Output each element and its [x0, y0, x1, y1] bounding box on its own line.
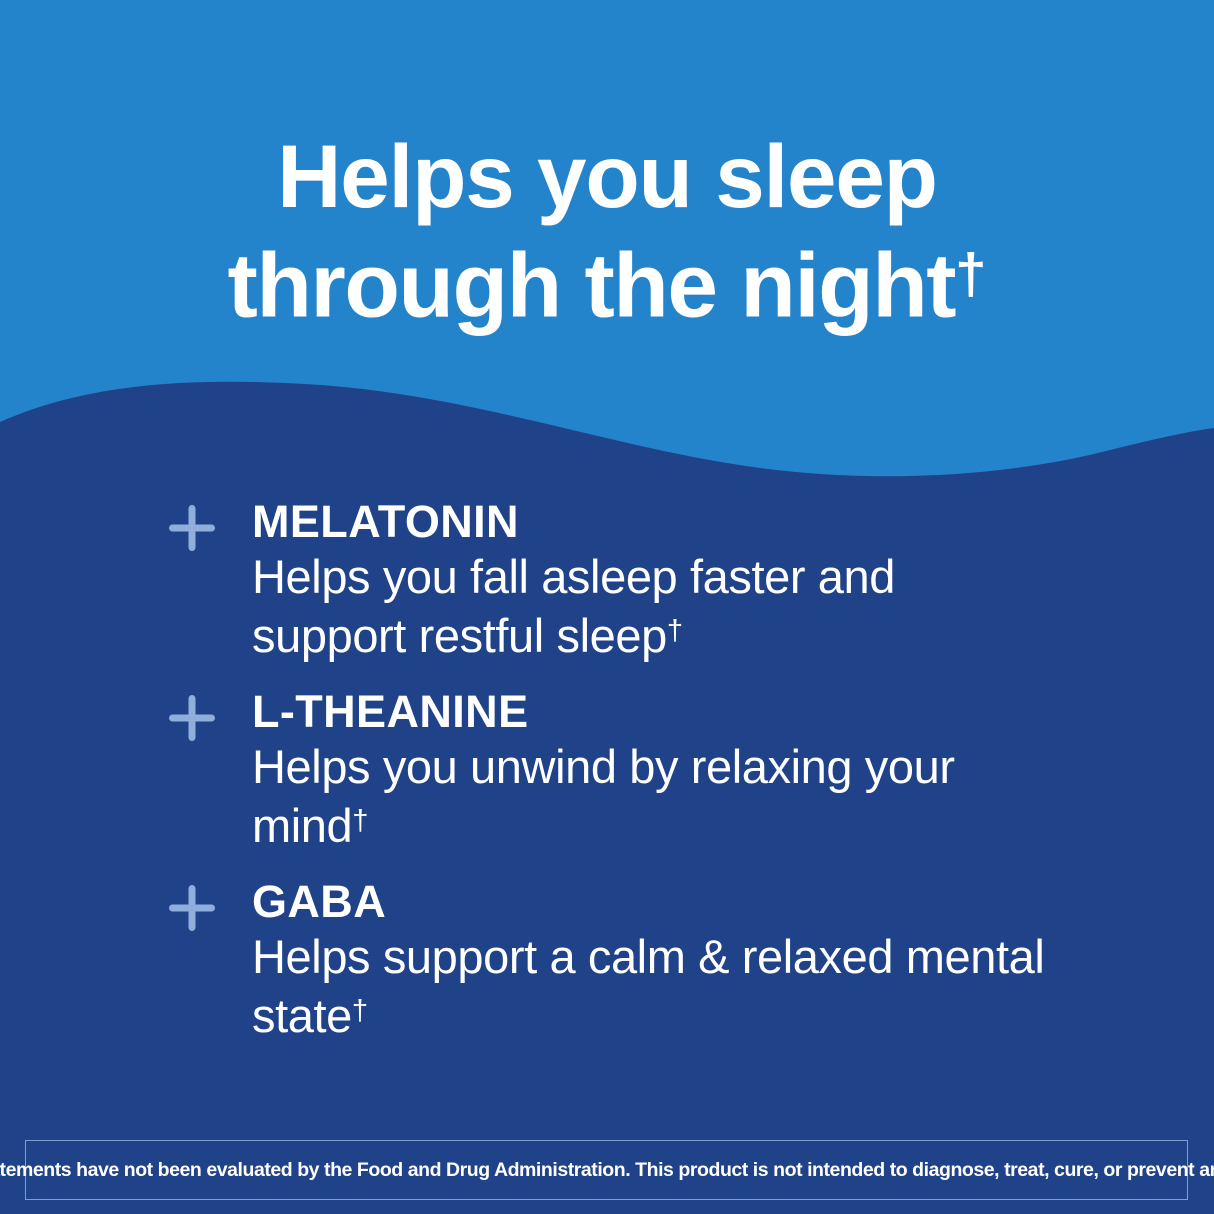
sleep-supplement-benefits-poster: Helps you sleep through the night† MELAT…	[0, 0, 1214, 1214]
benefit-item-melatonin: MELATONIN Helps you fall asleep faster a…	[0, 497, 1214, 663]
plus-icon	[168, 504, 216, 552]
benefit-item-l-theanine: L-THEANINE Helps you unwind by relaxing …	[0, 687, 1214, 853]
plus-icon	[168, 884, 216, 932]
benefit-title: L-THEANINE	[252, 687, 1214, 737]
headline-line-2-text: through the night	[228, 236, 956, 337]
disclaimer-text: †These statements have not been evaluate…	[0, 1158, 1214, 1182]
headline-dagger: †	[955, 242, 986, 305]
benefit-item-gaba: GABA Helps support a calm & relaxed ment…	[0, 877, 1214, 1043]
benefit-description: Helps support a calm & relaxed mental st…	[252, 929, 1052, 1043]
benefits-list: MELATONIN Helps you fall asleep faster a…	[0, 497, 1214, 1044]
benefit-title: MELATONIN	[252, 497, 1214, 547]
benefit-dagger: †	[352, 805, 368, 837]
benefit-description: Helps you fall asleep faster and support…	[252, 549, 1052, 663]
disclaimer-box: †These statements have not been evaluate…	[25, 1140, 1188, 1200]
headline: Helps you sleep through the night†	[0, 128, 1214, 335]
benefit-title: GABA	[252, 877, 1214, 927]
benefit-dagger: †	[352, 995, 368, 1027]
plus-icon	[168, 694, 216, 742]
benefit-description: Helps you unwind by relaxing your mind†	[252, 739, 1052, 853]
headline-line-2: through the night†	[0, 225, 1214, 335]
headline-line-1: Helps you sleep	[0, 128, 1214, 225]
benefit-description-text: Helps you fall asleep faster and support…	[252, 550, 895, 662]
benefit-dagger: †	[667, 615, 683, 647]
benefit-description-text: Helps support a calm & relaxed mental st…	[252, 930, 1044, 1042]
